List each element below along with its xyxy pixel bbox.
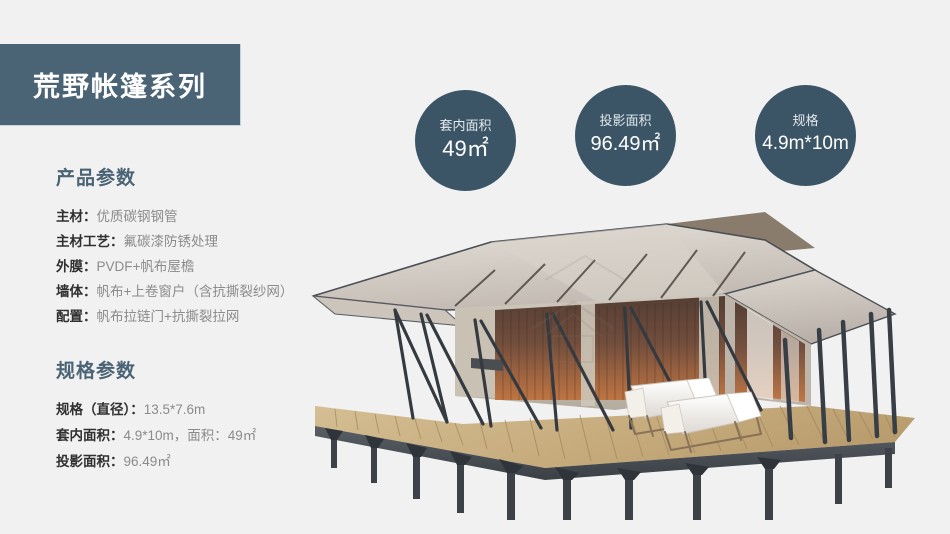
stat-circle-dimensions: 规格 4.9m*10m <box>755 85 856 186</box>
stat-circle-interior-area: 套内面积 49㎡ <box>415 90 516 191</box>
stilt-post <box>885 448 892 488</box>
stat-label: 套内面积 <box>439 117 491 134</box>
stat-value: 4.9m*10m <box>762 129 849 159</box>
param-label: 投影面积： <box>56 454 124 469</box>
param-label: 规格（直径）： <box>56 402 144 417</box>
param-label: 外膜： <box>56 259 97 274</box>
param-value: 96.49㎡ <box>124 454 171 469</box>
param-label: 套内面积： <box>56 428 124 443</box>
slide-canvas: 荒野帐篷系列 产品参数 主材：优质碳钢钢管 主材工艺：氟碳漆防锈处理 外膜：PV… <box>0 0 950 534</box>
product-params-heading: 产品参数 <box>56 163 356 190</box>
stat-value: 96.49㎡ <box>590 129 660 159</box>
param-value: 帆布拉链门+抗撕裂拉网 <box>97 309 240 324</box>
stat-value: 49㎡ <box>442 134 488 164</box>
curtain <box>747 308 773 400</box>
stilt-post <box>835 454 842 504</box>
param-label: 主材工艺： <box>56 234 124 249</box>
param-value: 优质碳钢钢管 <box>97 209 178 224</box>
param-label: 主材： <box>56 209 97 224</box>
stat-label: 投影面积 <box>599 112 651 129</box>
param-label: 墙体： <box>56 284 97 299</box>
param-value: 13.5*7.6m <box>144 402 206 417</box>
param-label: 配置： <box>56 309 97 324</box>
stat-label: 规格 <box>792 112 818 129</box>
param-value: 4.9*10m，面积：49㎡ <box>124 428 257 443</box>
title-banner: 荒野帐篷系列 <box>0 44 241 126</box>
tent-render-image <box>295 210 950 520</box>
param-value: 帆布+上卷窗户（含抗撕裂纱网） <box>97 284 294 299</box>
stilt-post <box>765 461 773 520</box>
stat-circle-projected-area: 投影面积 96.49㎡ <box>575 85 676 186</box>
param-value: 氟碳漆防锈处理 <box>124 234 219 249</box>
page-title: 荒野帐篷系列 <box>33 65 207 104</box>
tent-illustration <box>295 210 950 520</box>
param-value: PVDF+帆布屋檐 <box>97 259 195 274</box>
